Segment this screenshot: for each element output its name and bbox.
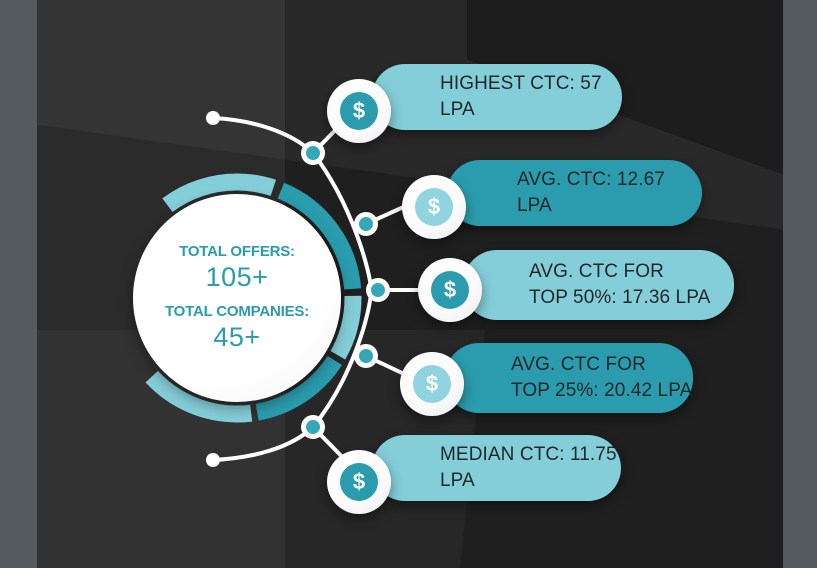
- dollar-icon[interactable]: $: [418, 258, 482, 322]
- dollar-icon[interactable]: $: [327, 79, 391, 143]
- donut-inner-face: TOTAL OFFERS: 105+ TOTAL COMPANIES: 45+: [133, 194, 341, 402]
- dollar-glyph: $: [431, 271, 469, 309]
- dollar-glyph: $: [413, 365, 451, 403]
- dollar-icon[interactable]: $: [400, 352, 464, 416]
- dollar-glyph: $: [340, 463, 378, 501]
- node-core-3: [371, 283, 385, 297]
- endpoint-dot-top: [206, 111, 220, 125]
- stat-label: AVG. CTC: 12.67 LPA: [517, 167, 702, 219]
- stat-row-avg-top25[interactable]: AVG. CTC FOR TOP 25%: 20.42 LPA $: [400, 343, 700, 428]
- summary-donut: TOTAL OFFERS: 105+ TOTAL COMPANIES: 45+: [112, 173, 362, 423]
- stat-label: HIGHEST CTC: 57 LPA: [440, 71, 622, 123]
- stat-row-median-ctc[interactable]: MEDIAN CTC: 11.75 LPA $: [327, 435, 627, 515]
- infographic-canvas: TOTAL OFFERS: 105+ TOTAL COMPANIES: 45+ …: [0, 0, 817, 568]
- dollar-glyph: $: [340, 92, 378, 130]
- dollar-icon[interactable]: $: [327, 450, 391, 514]
- stat-pill[interactable]: AVG. CTC: 12.67 LPA: [447, 160, 702, 226]
- dark-panel: TOTAL OFFERS: 105+ TOTAL COMPANIES: 45+ …: [37, 0, 783, 568]
- total-companies-value: 45+: [213, 322, 260, 353]
- total-offers-value: 105+: [206, 262, 269, 293]
- stat-row-avg-top50[interactable]: AVG. CTC FOR TOP 50%: 17.36 LPA $: [418, 250, 728, 335]
- total-offers-label: TOTAL OFFERS:: [179, 243, 295, 260]
- stat-row-avg-ctc[interactable]: AVG. CTC: 12.67 LPA $: [402, 160, 702, 240]
- dollar-icon[interactable]: $: [402, 175, 466, 239]
- stat-pill[interactable]: HIGHEST CTC: 57 LPA: [372, 64, 622, 130]
- branch-line-5: [213, 427, 313, 460]
- stat-pill[interactable]: MEDIAN CTC: 11.75 LPA: [372, 435, 621, 501]
- stat-label: AVG. CTC FOR TOP 50%: 17.36 LPA: [529, 259, 710, 311]
- stat-label: MEDIAN CTC: 11.75 LPA: [440, 442, 621, 494]
- endpoint-dot-bottom: [206, 453, 220, 467]
- stat-pill[interactable]: AVG. CTC FOR TOP 25%: 20.42 LPA: [445, 343, 693, 413]
- node-core-1: [306, 146, 320, 160]
- dollar-glyph: $: [415, 188, 453, 226]
- stat-row-highest-ctc[interactable]: HIGHEST CTC: 57 LPA $: [327, 64, 627, 144]
- stat-pill[interactable]: AVG. CTC FOR TOP 50%: 17.36 LPA: [463, 250, 734, 320]
- branch-line-1: [213, 118, 313, 153]
- stat-label: AVG. CTC FOR TOP 25%: 20.42 LPA: [511, 352, 692, 404]
- total-companies-label: TOTAL COMPANIES:: [165, 303, 309, 320]
